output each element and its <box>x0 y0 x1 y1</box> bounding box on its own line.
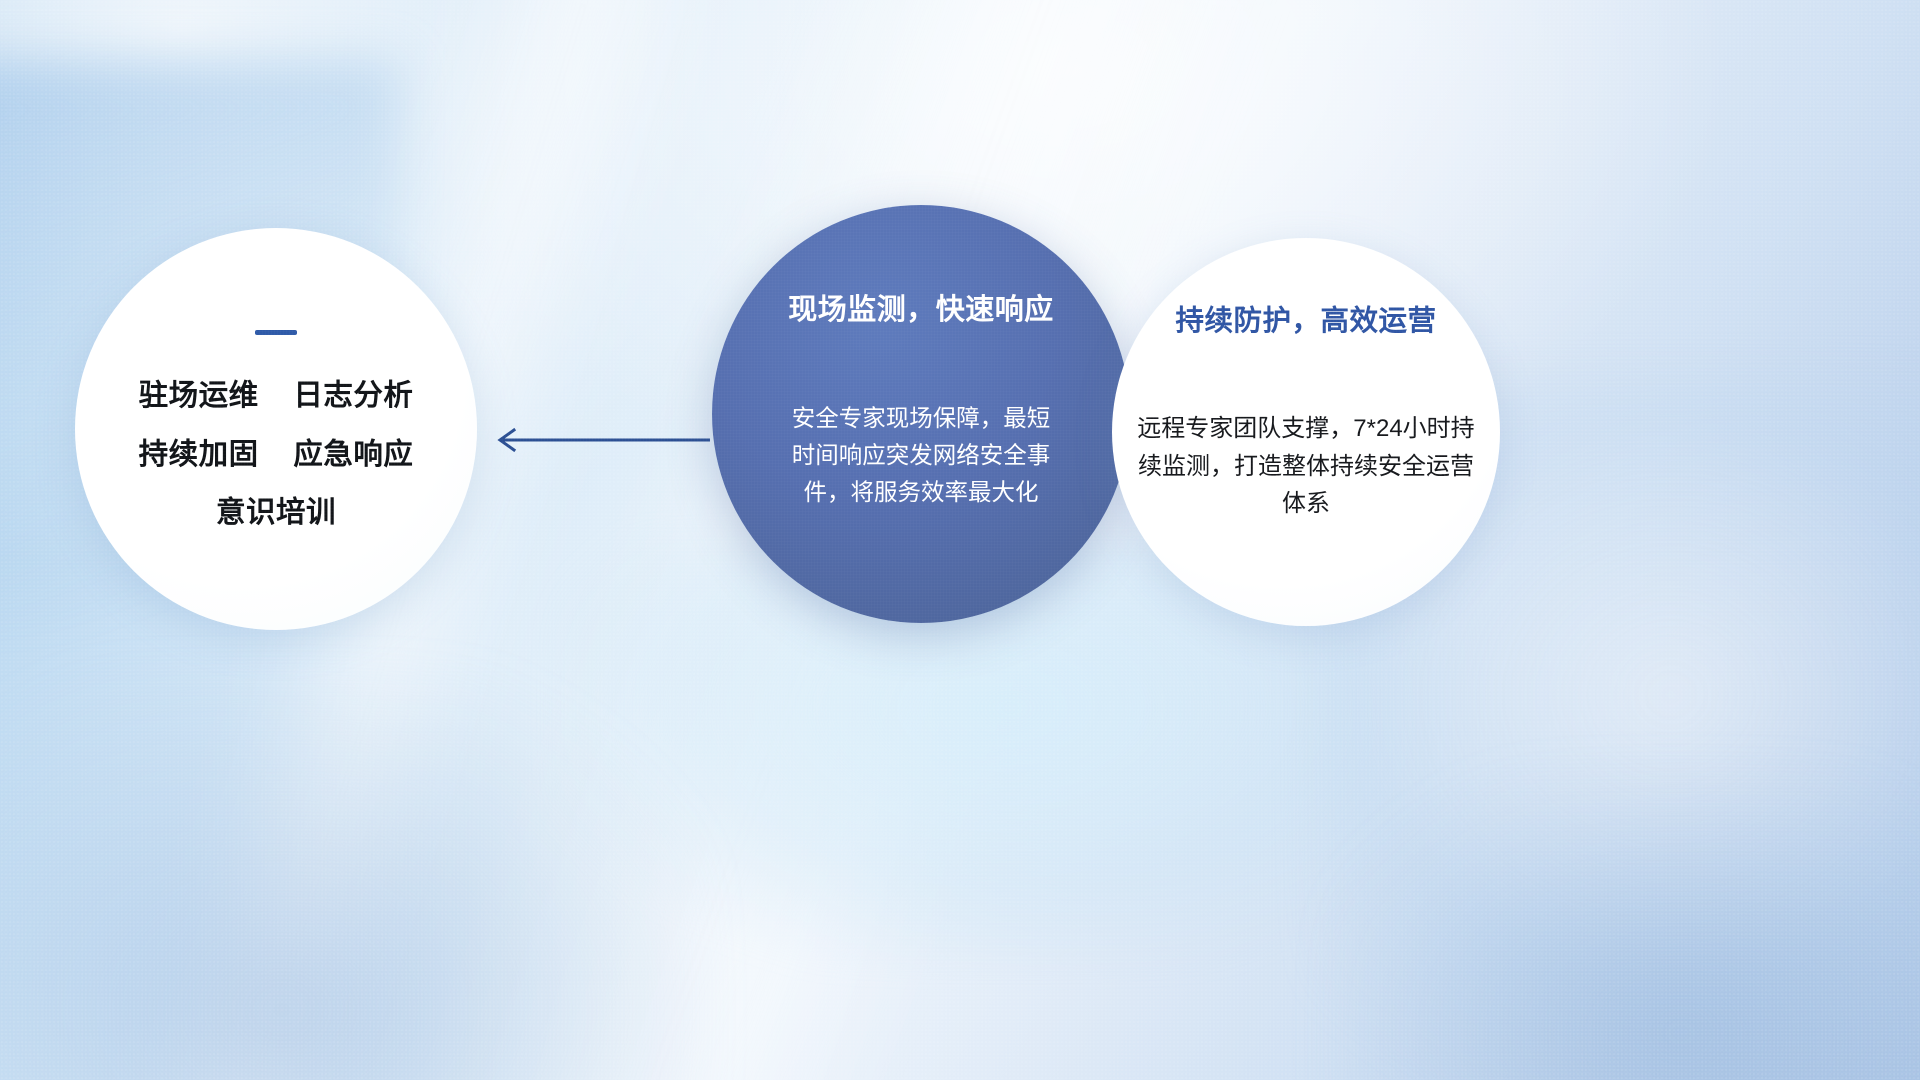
capability-line-2: 持续加固 应急响应 <box>75 440 477 470</box>
flow-arrow-left-icon <box>488 424 710 456</box>
capability-list: 驻场运维 日志分析 持续加固 应急响应 意识培训 <box>75 381 477 528</box>
service-circle-remote-heading: 持续防护，高效运营 <box>1175 304 1436 338</box>
service-circle-onsite-heading: 现场监测，快速响应 <box>788 293 1054 328</box>
service-circle-remote-body: 远程专家团队支撑，7*24小时持续监测，打造整体持续安全运营体系 <box>1136 410 1476 522</box>
service-circle-onsite[interactable]: 现场监测，快速响应 安全专家现场保障，最短时间响应突发网络安全事件，将服务效率最… <box>712 205 1130 623</box>
capability-line-3: 意识培训 <box>75 498 477 528</box>
service-circle-onsite-body: 安全专家现场保障，最短时间响应突发网络安全事件，将服务效率最大化 <box>787 400 1055 511</box>
diagram-stage: 驻场运维 日志分析 持续加固 应急响应 意识培训 现场监测，快速响应 安全专家现… <box>0 0 1920 1080</box>
capability-circle-left[interactable]: 驻场运维 日志分析 持续加固 应急响应 意识培训 <box>75 228 477 630</box>
capability-line-1: 驻场运维 日志分析 <box>75 381 477 411</box>
divider-dash-icon <box>255 330 297 335</box>
service-circle-remote[interactable]: 持续防护，高效运营 远程专家团队支撑，7*24小时持续监测，打造整体持续安全运营… <box>1112 238 1500 626</box>
